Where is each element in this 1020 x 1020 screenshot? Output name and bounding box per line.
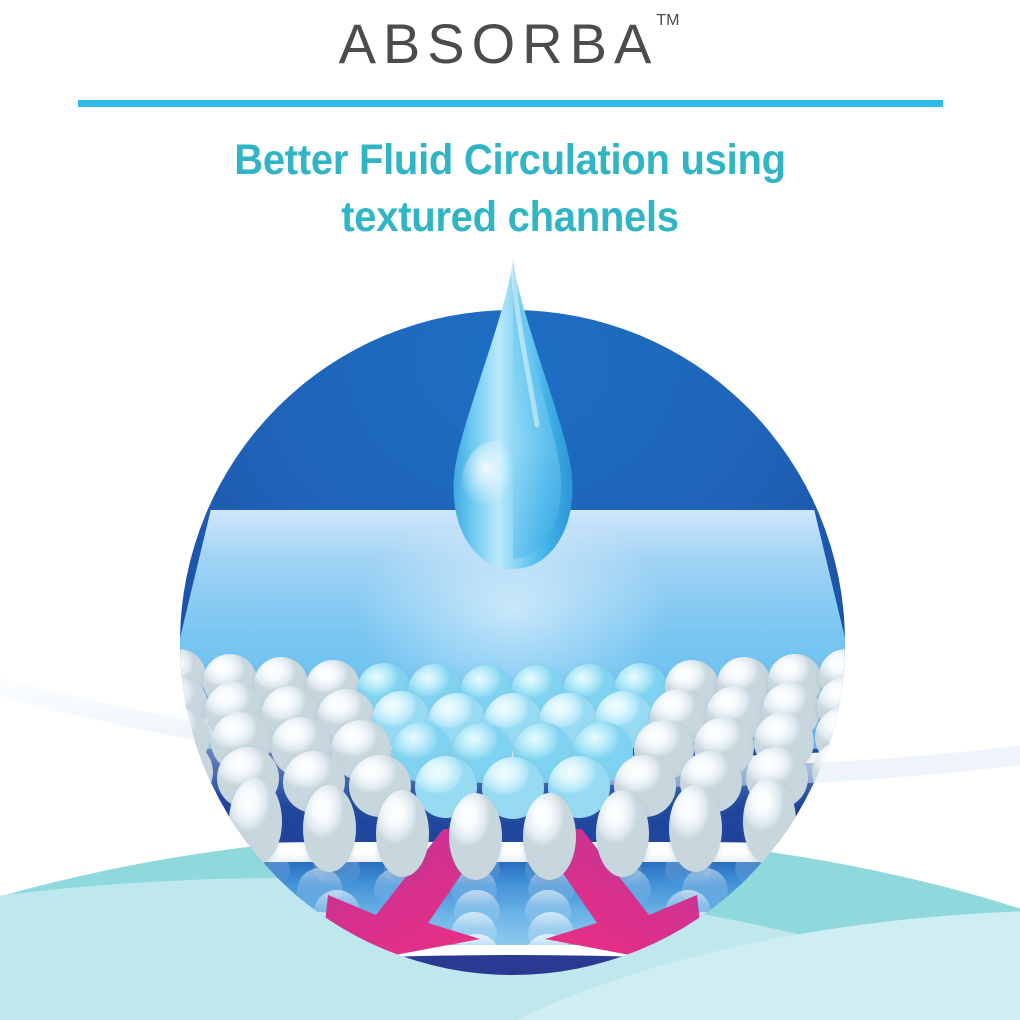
bead	[229, 778, 282, 865]
header-divider-rule	[78, 100, 943, 107]
bead	[376, 790, 429, 877]
bead	[449, 793, 502, 880]
bead	[523, 793, 576, 880]
bead	[596, 790, 649, 877]
bead	[743, 778, 796, 865]
bead	[303, 785, 356, 872]
brand-logo: ABSORBATM	[0, 16, 1020, 72]
bead-layer	[180, 669, 845, 855]
bead	[669, 785, 722, 872]
illustration-scene	[180, 310, 845, 975]
headline-line-1: Better Fluid Circulation using	[119, 132, 900, 189]
page-title: Better Fluid Circulation using textured …	[119, 132, 900, 246]
brand-name: ABSORBA	[339, 12, 659, 75]
water-droplet	[439, 257, 587, 587]
trademark-symbol: TM	[656, 12, 679, 29]
infographic-page: ABSORBATM Better Fluid Circulation using…	[0, 0, 1020, 1020]
flow-arrows	[180, 829, 845, 975]
headline-line-2: textured channels	[119, 189, 900, 246]
